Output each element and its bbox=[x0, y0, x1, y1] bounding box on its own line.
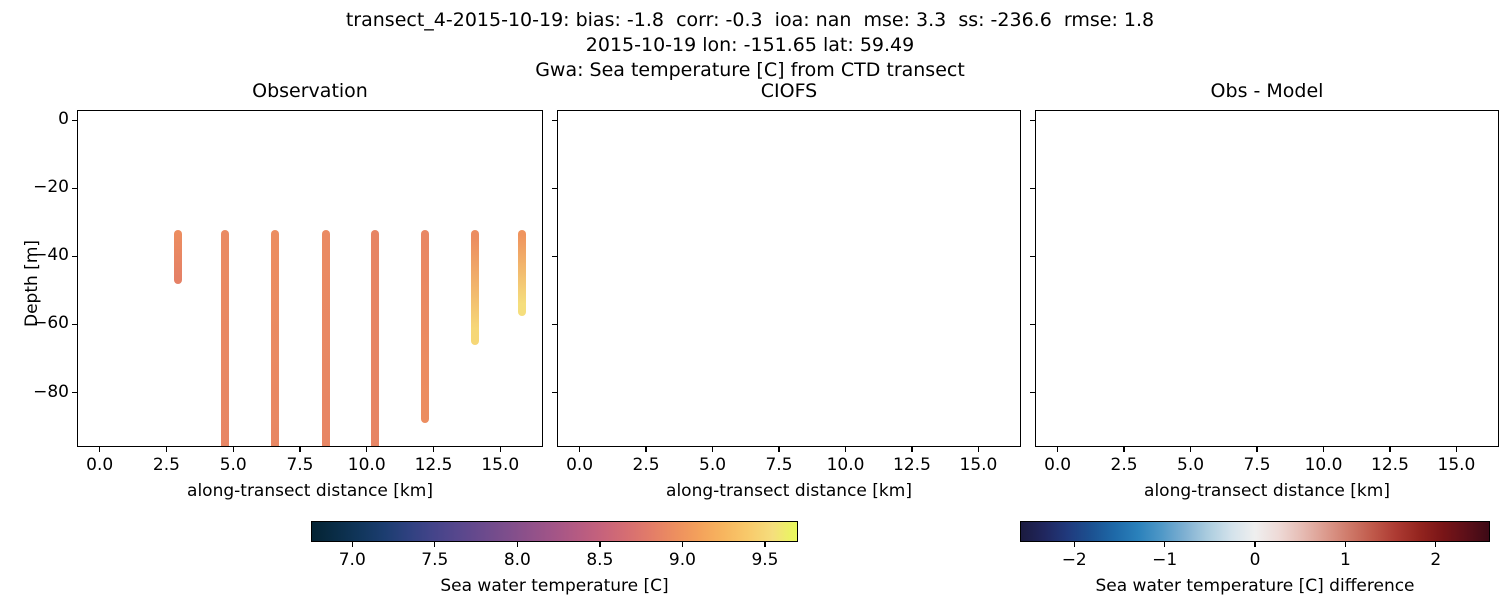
xtick-label-2.5: 2.5 bbox=[134, 455, 198, 475]
xtick-mark bbox=[1323, 447, 1324, 452]
xaxis-label-ciofs: along-transect distance [km] bbox=[557, 481, 1021, 501]
xtick-mark bbox=[1256, 447, 1257, 452]
colorbar-tick-label-−1: −1 bbox=[1133, 550, 1197, 570]
ytick-mark bbox=[72, 256, 77, 257]
colorbar-tick-mark bbox=[1254, 542, 1255, 547]
xtick-mark bbox=[645, 447, 646, 452]
xtick-mark bbox=[845, 447, 846, 452]
ytick-mark bbox=[552, 188, 557, 189]
xtick-mark bbox=[433, 447, 434, 452]
figure-canvas: transect_4-2015-10-19: bias: -1.8 corr: … bbox=[0, 0, 1500, 600]
cast-marker bbox=[421, 230, 429, 423]
xtick-mark bbox=[233, 447, 234, 452]
ytick-label-0: 0 bbox=[7, 109, 69, 129]
xtick-label-5.0: 5.0 bbox=[1159, 455, 1223, 475]
ytick-mark bbox=[1030, 324, 1035, 325]
cast-marker bbox=[471, 230, 479, 345]
xtick-mark bbox=[1389, 447, 1390, 452]
ytick-mark bbox=[552, 120, 557, 121]
xtick-label-5.0: 5.0 bbox=[201, 455, 265, 475]
xtick-mark bbox=[366, 447, 367, 452]
xtick-label-2.5: 2.5 bbox=[1092, 455, 1156, 475]
ytick-mark bbox=[1030, 188, 1035, 189]
colorbar-tick-mark bbox=[352, 542, 353, 547]
xtick-label-15.0: 15.0 bbox=[946, 455, 1010, 475]
ytick-mark bbox=[72, 188, 77, 189]
xtick-label-2.5: 2.5 bbox=[614, 455, 678, 475]
xaxis-label-observation: along-transect distance [km] bbox=[77, 481, 543, 501]
figure-suptitle: transect_4-2015-10-19: bias: -1.8 corr: … bbox=[0, 8, 1500, 83]
ytick-label-−80: −80 bbox=[7, 382, 69, 402]
colorbar-tick-label-7.5: 7.5 bbox=[403, 550, 467, 570]
colorbar-tick-label-1: 1 bbox=[1313, 550, 1377, 570]
colorbar-tick-label-0: 0 bbox=[1223, 550, 1287, 570]
xtick-label-12.5: 12.5 bbox=[1358, 455, 1422, 475]
cast-marker bbox=[221, 230, 229, 447]
suptitle-line-2: 2015-10-19 lon: -151.65 lat: 59.49 bbox=[0, 33, 1500, 58]
colorbar-tick-label-8.0: 8.0 bbox=[485, 550, 549, 570]
xtick-mark bbox=[1123, 447, 1124, 452]
xtick-label-7.5: 7.5 bbox=[747, 455, 811, 475]
xtick-label-7.5: 7.5 bbox=[268, 455, 332, 475]
suptitle-line-1: transect_4-2015-10-19: bias: -1.8 corr: … bbox=[0, 8, 1500, 33]
cast-marker bbox=[271, 230, 279, 447]
ytick-mark bbox=[1030, 392, 1035, 393]
colorbar-tick-mark bbox=[1345, 542, 1346, 547]
colorbar-tick-label-−2: −2 bbox=[1042, 550, 1106, 570]
axes-observation bbox=[77, 110, 543, 447]
xtick-label-0.0: 0.0 bbox=[1026, 455, 1090, 475]
colorbar-tick-label-8.5: 8.5 bbox=[568, 550, 632, 570]
yaxis-label: Depth [m] bbox=[22, 239, 42, 326]
colorbar-tick-label-7.0: 7.0 bbox=[320, 550, 384, 570]
colorbar-tick-mark bbox=[764, 542, 765, 547]
ytick-mark bbox=[552, 256, 557, 257]
xtick-label-15.0: 15.0 bbox=[468, 455, 532, 475]
xtick-mark bbox=[1456, 447, 1457, 452]
xtick-label-0.0: 0.0 bbox=[548, 455, 612, 475]
colorbar-tick-label-9.5: 9.5 bbox=[733, 550, 797, 570]
colorbar-tick-mark bbox=[517, 542, 518, 547]
ytick-label-−20: −20 bbox=[7, 177, 69, 197]
ytick-mark bbox=[72, 324, 77, 325]
xtick-mark bbox=[712, 447, 713, 452]
ytick-mark bbox=[72, 392, 77, 393]
xtick-label-7.5: 7.5 bbox=[1225, 455, 1289, 475]
panel-title-obs-model: Obs - Model bbox=[1035, 80, 1499, 102]
panel-title-ciofs: CIOFS bbox=[557, 80, 1021, 102]
colorbar-tick-mark bbox=[434, 542, 435, 547]
colorbar-tick-mark bbox=[1435, 542, 1436, 547]
colorbar-label-temperature: Sea water temperature [C] bbox=[311, 576, 798, 596]
colorbar-tick-mark bbox=[682, 542, 683, 547]
colorbar-temperature bbox=[311, 521, 798, 542]
xtick-mark bbox=[500, 447, 501, 452]
colorbar-tick-mark bbox=[599, 542, 600, 547]
xtick-label-12.5: 12.5 bbox=[402, 455, 466, 475]
xtick-label-10.0: 10.0 bbox=[1292, 455, 1356, 475]
axes-obs-model bbox=[1035, 110, 1499, 447]
xtick-mark bbox=[579, 447, 580, 452]
ytick-mark bbox=[552, 324, 557, 325]
xtick-mark bbox=[911, 447, 912, 452]
xaxis-label-obs-model: along-transect distance [km] bbox=[1035, 481, 1499, 501]
xtick-label-0.0: 0.0 bbox=[68, 455, 132, 475]
xtick-mark bbox=[1190, 447, 1191, 452]
xtick-label-10.0: 10.0 bbox=[814, 455, 878, 475]
cast-marker bbox=[518, 230, 526, 316]
cast-marker bbox=[322, 230, 330, 447]
colorbar-tick-label-2: 2 bbox=[1404, 550, 1468, 570]
ytick-mark bbox=[552, 392, 557, 393]
colorbar-temperature-difference bbox=[1020, 521, 1490, 542]
xtick-mark bbox=[1057, 447, 1058, 452]
colorbar-tick-label-9.0: 9.0 bbox=[650, 550, 714, 570]
axes-ciofs bbox=[557, 110, 1021, 447]
colorbar-tick-mark bbox=[1164, 542, 1165, 547]
xtick-label-10.0: 10.0 bbox=[335, 455, 399, 475]
ytick-mark bbox=[1030, 256, 1035, 257]
xtick-label-15.0: 15.0 bbox=[1424, 455, 1488, 475]
panel-title-observation: Observation bbox=[77, 80, 543, 102]
xtick-mark bbox=[299, 447, 300, 452]
colorbar-tick-mark bbox=[1074, 542, 1075, 547]
xtick-mark bbox=[978, 447, 979, 452]
xtick-label-12.5: 12.5 bbox=[880, 455, 944, 475]
ytick-mark bbox=[72, 120, 77, 121]
cast-marker bbox=[174, 230, 182, 284]
xtick-mark bbox=[166, 447, 167, 452]
xtick-label-5.0: 5.0 bbox=[681, 455, 745, 475]
xtick-mark bbox=[778, 447, 779, 452]
ytick-mark bbox=[1030, 120, 1035, 121]
xtick-mark bbox=[99, 447, 100, 452]
colorbar-label-temperature-difference: Sea water temperature [C] difference bbox=[1020, 576, 1490, 596]
cast-marker bbox=[371, 230, 379, 447]
